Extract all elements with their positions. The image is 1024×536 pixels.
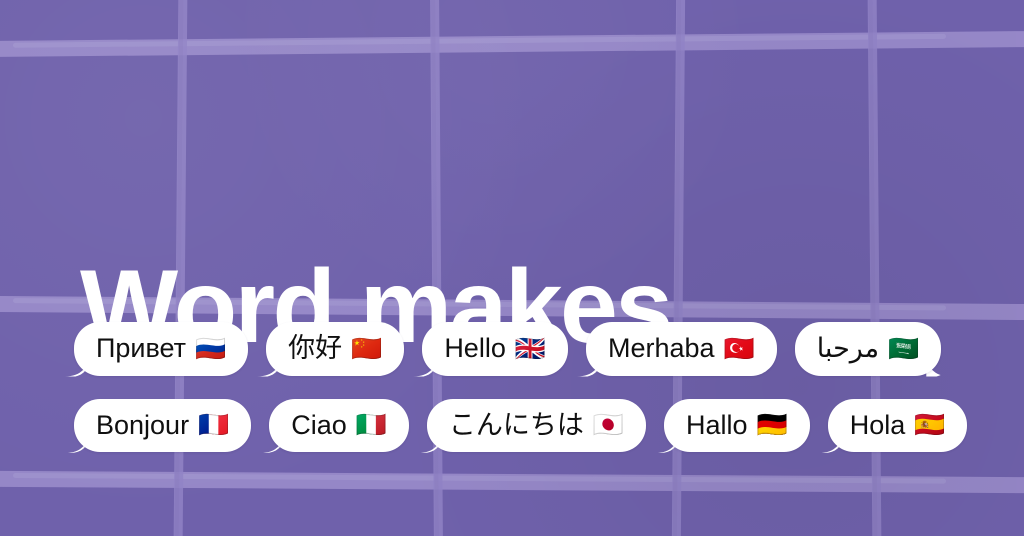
flag-icon-russian: 🇷🇺 [195, 336, 226, 361]
greeting-text: Bonjour [96, 408, 189, 443]
flag-icon-italian: 🇮🇹 [356, 412, 387, 437]
greeting-text: こんにちは [449, 408, 584, 443]
greeting-bubble-row-1: Привет🇷🇺你好🇨🇳Hello🇬🇧Merhaba🇹🇷🇸🇦مرحبا [74, 322, 964, 376]
greeting-text: Ciao [291, 408, 347, 443]
greeting-bubble-spanish[interactable]: Hola🇪🇸 [828, 399, 968, 453]
greeting-bubble-arabic[interactable]: 🇸🇦مرحبا [795, 322, 942, 376]
greeting-bubble-french[interactable]: Bonjour🇫🇷 [74, 399, 251, 453]
flag-icon-japanese: 🇯🇵 [593, 412, 624, 437]
greeting-bubble-group: Привет🇷🇺你好🇨🇳Hello🇬🇧Merhaba🇹🇷🇸🇦مرحبا Bonj… [74, 322, 964, 475]
greeting-text: Hello [444, 331, 506, 366]
greeting-bubble-turkish[interactable]: Merhaba🇹🇷 [586, 322, 777, 376]
flag-icon-spanish: 🇪🇸 [914, 412, 945, 437]
greeting-bubble-russian[interactable]: Привет🇷🇺 [74, 322, 248, 376]
greeting-text: مرحبا [817, 331, 879, 366]
greeting-bubble-german[interactable]: Hallo🇩🇪 [664, 399, 810, 453]
greeting-text: 你好 [288, 331, 342, 366]
flag-icon-german: 🇩🇪 [757, 412, 788, 437]
greeting-bubble-row-2: Bonjour🇫🇷Ciao🇮🇹こんにちは🇯🇵Hallo🇩🇪Hola🇪🇸 [74, 399, 964, 453]
greeting-text: Hallo [686, 408, 748, 443]
flag-icon-english: 🇬🇧 [515, 336, 546, 361]
flag-icon-french: 🇫🇷 [198, 412, 229, 437]
flag-icon-chinese: 🇨🇳 [351, 336, 382, 361]
greeting-bubble-chinese[interactable]: 你好🇨🇳 [266, 322, 404, 376]
promo-poster: Word makes learning simple. Привет🇷🇺你好🇨🇳… [0, 0, 1024, 536]
flag-icon-turkish: 🇹🇷 [724, 336, 755, 361]
greeting-text: Merhaba [608, 331, 715, 366]
greeting-text: Hola [850, 408, 906, 443]
greeting-bubble-japanese[interactable]: こんにちは🇯🇵 [427, 399, 646, 453]
greeting-text: Привет [96, 331, 186, 366]
grid-horizontal-line-top [0, 31, 1024, 57]
greeting-bubble-english[interactable]: Hello🇬🇧 [422, 322, 568, 376]
flag-icon-arabic: 🇸🇦 [888, 336, 919, 361]
greeting-bubble-italian[interactable]: Ciao🇮🇹 [269, 399, 409, 453]
